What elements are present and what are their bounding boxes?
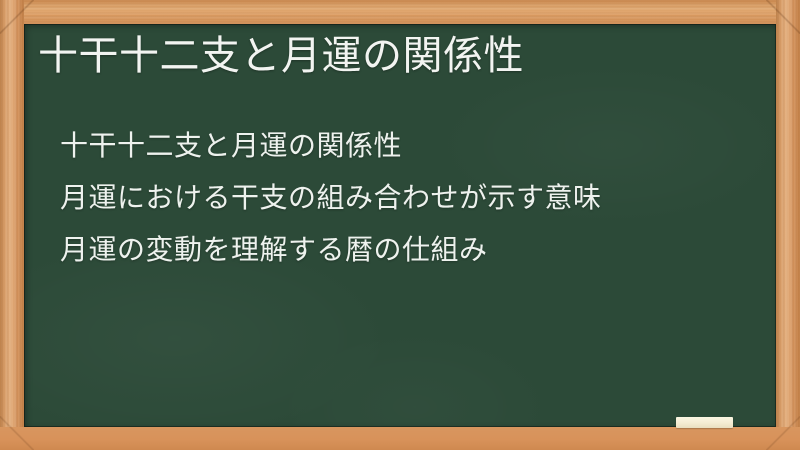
frame-rail-left — [0, 0, 24, 450]
bullet-item-2: 月運における干支の組み合わせが示す意味 — [60, 172, 760, 224]
frame-rail-top — [0, 0, 800, 24]
frame-rail-right — [776, 0, 800, 450]
chalk-stick-icon — [676, 417, 733, 428]
bullet-item-3: 月運の変動を理解する暦の仕組み — [60, 224, 760, 276]
frame-ledge-bottom — [0, 427, 800, 450]
chalkboard-slide: 十干十二支と月運の関係性 十干十二支と月運の関係性 月運における干支の組み合わせ… — [0, 0, 800, 450]
bullet-item-1: 十干十二支と月運の関係性 — [60, 120, 760, 172]
bullet-list: 十干十二支と月運の関係性 月運における干支の組み合わせが示す意味 月運の変動を理… — [60, 120, 760, 276]
slide-title: 十干十二支と月運の関係性 — [38, 32, 758, 80]
chalkboard-surface: 十干十二支と月運の関係性 十干十二支と月運の関係性 月運における干支の組み合わせ… — [24, 24, 776, 427]
